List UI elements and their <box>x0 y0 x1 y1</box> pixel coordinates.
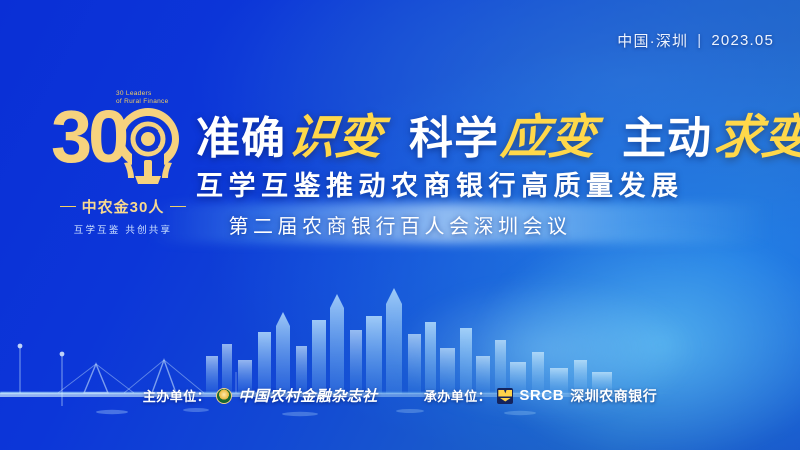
headline-subtitle: 互学互鉴推动农商银行高质量发展 <box>196 164 684 203</box>
separator: | <box>697 32 702 49</box>
organizer-credits: 主办单位： 中国农村金融杂志社 承办单位： SRCB 深圳农商银行 <box>0 385 800 406</box>
headline-group-3: 主动 求变 <box>622 98 800 167</box>
headline-group-1: 准确 识变 <box>196 98 383 167</box>
headline-gold-2: 应变 <box>498 98 599 167</box>
credit-organizer: 承办单位： SRCB 深圳农商银行 <box>424 386 657 406</box>
logo-mark: 30 <box>49 98 197 192</box>
headline-white-2: 科学 <box>409 102 499 166</box>
rural-finance-hands-emblem <box>105 102 191 190</box>
credit-host-name: 中国农村金融杂志社 <box>238 385 378 406</box>
location-text: 中国·深圳 <box>617 30 688 51</box>
credit-organizer-abbr: SRCB <box>519 387 564 404</box>
headline: 准确 识变 科学 应变 主动 求变 <box>196 98 800 167</box>
credit-host-label: 主办单位： <box>143 386 211 405</box>
conference-banner: 中国·深圳 | 2023.05 30 Leaders of Rural Fina… <box>0 0 800 450</box>
china-rural-finance-emblem-icon <box>216 388 232 404</box>
srcb-logo-mark-icon <box>497 388 513 404</box>
logo-dash-left <box>60 206 76 208</box>
credit-organizer-name: 深圳农商银行 <box>570 386 657 406</box>
shenzhen-skyline-silhouette <box>0 260 640 450</box>
credit-host: 主办单位： 中国农村金融杂志社 <box>143 385 378 406</box>
date-text: 2023.05 <box>711 32 774 49</box>
conference-name: 第二届农商银行百人会深圳会议 <box>0 210 800 239</box>
credit-organizer-label: 承办单位： <box>424 386 492 405</box>
headline-white-1: 准确 <box>196 102 286 166</box>
headline-gold-1: 识变 <box>285 98 386 167</box>
headline-white-3: 主动 <box>622 102 712 166</box>
headline-gold-3: 求变 <box>711 98 800 167</box>
headline-group-2: 科学 应变 <box>409 98 596 167</box>
location-date: 中国·深圳 | 2023.05 <box>617 30 774 51</box>
skyline-buildings <box>206 288 612 394</box>
